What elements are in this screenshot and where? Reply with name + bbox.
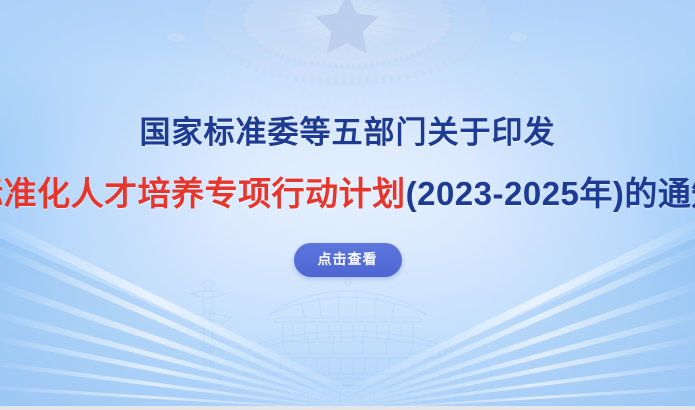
banner-title-highlight: 标准化人才培养专项行动计划: [0, 175, 406, 212]
cta-container: 点击查看: [294, 243, 402, 277]
footer-strip: [0, 406, 695, 410]
banner-title-line-1: 国家标准委等五部门关于印发: [140, 113, 556, 153]
policy-banner: 国家标准委等五部门关于印发 标准化人才培养专项行动计划(2023-2025年)的…: [0, 0, 695, 410]
view-details-button[interactable]: 点击查看: [294, 243, 402, 277]
banner-content: 国家标准委等五部门关于印发 标准化人才培养专项行动计划(2023-2025年)的…: [0, 0, 695, 410]
banner-title-tail: (2023-2025年)的通知: [406, 175, 695, 212]
banner-title-line-2: 标准化人才培养专项行动计划(2023-2025年)的通知: [0, 173, 695, 215]
